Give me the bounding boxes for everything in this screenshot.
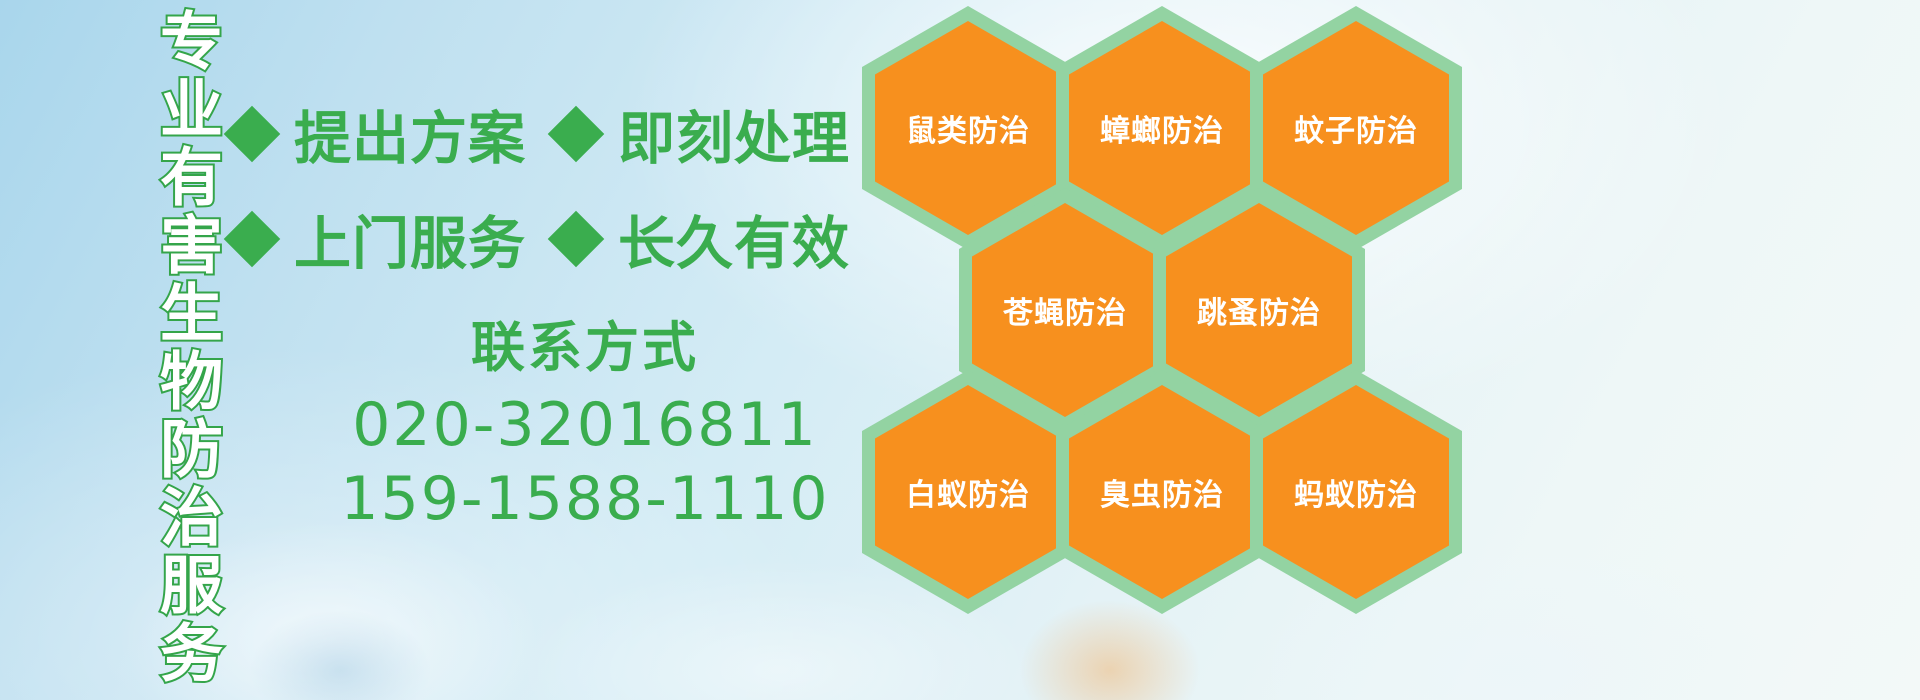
phone-number-landline[interactable]: 020-32016811 bbox=[300, 389, 870, 462]
feature-line-2: 上门服务 长久有效 bbox=[232, 198, 880, 280]
diamond-icon bbox=[548, 106, 605, 163]
hex-cell-flea[interactable]: 跳蚤防治 bbox=[1166, 203, 1352, 417]
hex-label-bedbug: 臭虫防治 bbox=[1100, 470, 1224, 514]
feature-item-3: 上门服务 bbox=[232, 198, 556, 280]
hex-label-mosquito: 蚊子防治 bbox=[1294, 106, 1418, 150]
phone-number-mobile[interactable]: 159-1588-1110 bbox=[300, 463, 870, 536]
feature-label-2: 即刻处理 bbox=[618, 93, 850, 175]
feature-label-4: 长久有效 bbox=[618, 198, 850, 280]
feature-line-1: 提出方案 即刻处理 bbox=[232, 93, 880, 175]
feature-item-1: 提出方案 bbox=[232, 93, 556, 175]
hex-label-cockroach: 蟑螂防治 bbox=[1100, 106, 1224, 150]
hex-cell-cockroach[interactable]: 蟑螂防治 bbox=[1069, 21, 1255, 235]
feature-label-3: 上门服务 bbox=[294, 198, 526, 280]
hex-cell-mosquito[interactable]: 蚊子防治 bbox=[1263, 21, 1449, 235]
hex-cell-rodent[interactable]: 鼠类防治 bbox=[875, 21, 1061, 235]
feature-item-2: 即刻处理 bbox=[556, 93, 880, 175]
feature-item-4: 长久有效 bbox=[556, 198, 880, 280]
hex-label-fly: 苍蝇防治 bbox=[1003, 288, 1127, 332]
hex-cell-bedbug[interactable]: 臭虫防治 bbox=[1069, 385, 1255, 599]
hex-label-ant: 蚂蚁防治 bbox=[1294, 470, 1418, 514]
hex-cell-termite[interactable]: 白蚁防治 bbox=[875, 385, 1061, 599]
feature-label-1: 提出方案 bbox=[294, 93, 526, 175]
contact-block: 联系方式 020-32016811 159-1588-1110 bbox=[300, 318, 870, 536]
hex-cell-ant[interactable]: 蚂蚁防治 bbox=[1263, 385, 1449, 599]
hex-label-termite: 白蚁防治 bbox=[906, 470, 1030, 514]
diamond-icon bbox=[224, 211, 281, 268]
hex-cell-fly[interactable]: 苍蝇防治 bbox=[972, 203, 1158, 417]
promo-banner: 专业有害生物防治服务 提出方案 即刻处理 上门服务 长久有效 联系方式 020-… bbox=[0, 0, 1920, 700]
service-honeycomb: 鼠类防治 蟑螂防治 蚊子防治 苍蝇防治 跳蚤防治 白蚁防 bbox=[860, 0, 1460, 700]
vertical-title: 专业有害生物防治服务 bbox=[110, 8, 218, 700]
hex-label-rodent: 鼠类防治 bbox=[906, 106, 1030, 150]
background-glow-e bbox=[250, 610, 430, 700]
hex-label-flea: 跳蚤防治 bbox=[1197, 288, 1321, 332]
contact-title: 联系方式 bbox=[300, 318, 870, 377]
diamond-icon bbox=[548, 211, 605, 268]
diamond-icon bbox=[224, 106, 281, 163]
